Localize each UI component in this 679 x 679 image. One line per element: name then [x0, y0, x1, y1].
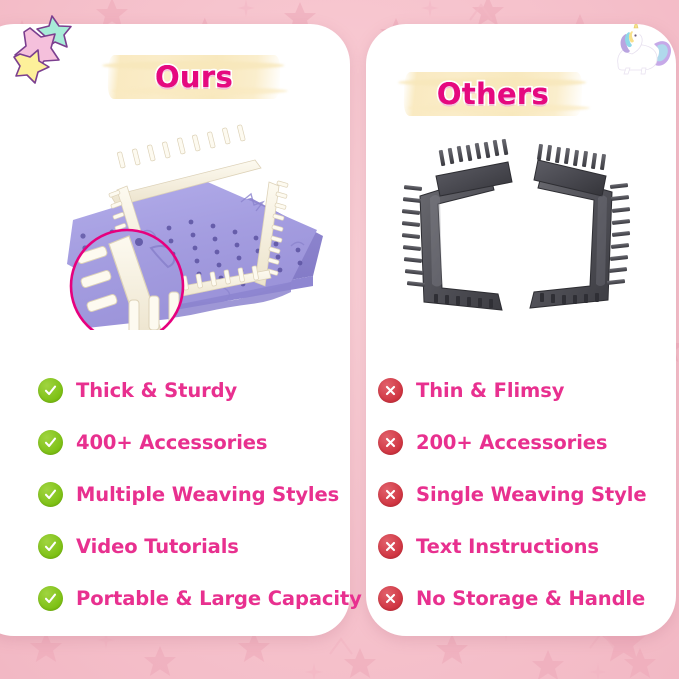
- feature-item: Portable & Large Capacity: [38, 572, 362, 624]
- feature-item: Single Weaving Style: [378, 468, 646, 520]
- product-image-others: [398, 136, 636, 326]
- feature-item: 400+ Accessories: [38, 416, 362, 468]
- feature-item: Thin & Flimsy: [378, 364, 646, 416]
- feature-label: Single Weaving Style: [416, 483, 646, 506]
- check-icon: [38, 586, 63, 611]
- feature-list-ours: Thick & Sturdy 400+ Accessories Multiple…: [38, 364, 362, 624]
- corner-stars-icon: [2, 10, 88, 88]
- cross-icon: [378, 534, 403, 559]
- check-icon: [38, 378, 63, 403]
- panel-title-others: Others: [437, 77, 549, 111]
- feature-item: Video Tutorials: [38, 520, 362, 572]
- feature-item: No Storage & Handle: [378, 572, 646, 624]
- feature-label: Thin & Flimsy: [416, 379, 564, 402]
- feature-label: 400+ Accessories: [76, 431, 267, 454]
- panel-title-ours: Ours: [155, 60, 233, 94]
- unicorn-icon: [604, 24, 676, 80]
- feature-label: Multiple Weaving Styles: [76, 483, 339, 506]
- feature-label: Portable & Large Capacity: [76, 587, 362, 610]
- panel-title-banner-ours: Ours: [108, 55, 280, 99]
- cross-icon: [378, 430, 403, 455]
- cross-icon: [378, 482, 403, 507]
- check-icon: [38, 430, 63, 455]
- feature-list-others: Thin & Flimsy 200+ Accessories Single We…: [378, 364, 646, 624]
- cross-icon: [378, 378, 403, 403]
- panel-title-banner-others: Others: [404, 72, 582, 116]
- feature-label: Text Instructions: [416, 535, 599, 558]
- product-image-ours: [55, 124, 331, 330]
- check-icon: [38, 534, 63, 559]
- check-icon: [38, 482, 63, 507]
- cross-icon: [378, 586, 403, 611]
- comparison-infographic: Ours: [0, 0, 679, 679]
- feature-item: 200+ Accessories: [378, 416, 646, 468]
- feature-label: Thick & Sturdy: [76, 379, 237, 402]
- feature-label: 200+ Accessories: [416, 431, 607, 454]
- feature-item: Multiple Weaving Styles: [38, 468, 362, 520]
- feature-item: Text Instructions: [378, 520, 646, 572]
- feature-item: Thick & Sturdy: [38, 364, 362, 416]
- feature-label: No Storage & Handle: [416, 587, 645, 610]
- feature-label: Video Tutorials: [76, 535, 239, 558]
